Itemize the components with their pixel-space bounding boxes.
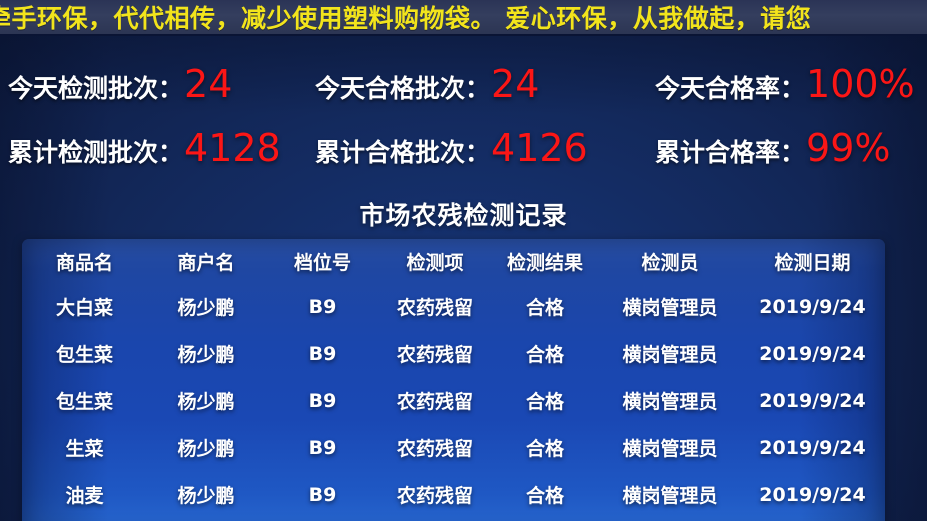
cell-merchant: 杨少鹏 [147,283,265,330]
cell-stall: B9 [265,377,380,424]
statistics-row-today: 今天检测批次： 24 今天合格批次： 24 今天合格率： 100% [0,54,927,116]
table-row: 生菜 杨少鹏 B9 农药残留 合格 横岗管理员 2019/9/24 [22,424,885,471]
cell-test-result: 合格 [490,283,600,330]
cell-merchant: 杨少鹏 [147,471,265,518]
column-header-inspector: 检测员 [600,239,740,283]
column-header-test-date: 检测日期 [740,239,885,283]
cell-inspector: 横岗管理员 [600,471,740,518]
stat-total-pass-rate-value: 99% [806,129,890,167]
marquee-banner: 牵手环保，代代相传，减少使用塑料购物袋。 爱心环保，从我做起，请您 [0,0,927,36]
cell-inspector: 横岗管理员 [600,283,740,330]
cell-test-item: 农药残留 [380,377,490,424]
stat-today-inspected-value: 24 [184,65,232,103]
stat-today-inspected: 今天检测批次： 24 [8,65,232,105]
marquee-banner-text: 牵手环保，代代相传，减少使用塑料购物袋。 爱心环保，从我做起，请您 [0,0,811,35]
cell-inspector: 横岗管理员 [600,330,740,377]
column-header-product: 商品名 [22,239,147,283]
cell-merchant: 杨少鹏 [147,330,265,377]
cell-stall: B9 [265,471,380,518]
cell-product: 包生菜 [22,377,147,424]
cell-stall: B9 [265,330,380,377]
table-row: 包生菜 杨少鹏 B9 农药残留 合格 横岗管理员 2019/9/24 [22,377,885,424]
stat-total-inspected-label: 累计检测批次： [8,133,183,169]
cell-test-date: 2019/9/24 [740,377,885,424]
column-header-test-item: 检测项 [380,239,490,283]
table-row: 大白菜 杨少鹏 B9 农药残留 合格 横岗管理员 2019/9/24 [22,283,885,330]
cell-test-item: 农药残留 [380,471,490,518]
cell-stall: B9 [265,283,380,330]
table-header-row: 商品名 商户名 档位号 检测项 检测结果 检测员 检测日期 [22,239,885,283]
cell-test-result: 合格 [490,424,600,471]
cell-test-item: 农药残留 [380,283,490,330]
stat-total-qualified-value: 4126 [491,129,588,167]
stat-today-inspected-label: 今天检测批次： [8,69,183,105]
cell-test-date: 2019/9/24 [740,283,885,330]
cell-product: 包生菜 [22,330,147,377]
column-header-merchant: 商户名 [147,239,265,283]
table-body: 大白菜 杨少鹏 B9 农药残留 合格 横岗管理员 2019/9/24 包生菜 杨… [22,283,885,518]
cell-stall: B9 [265,424,380,471]
stat-total-pass-rate: 累计合格率： 99% [655,129,890,169]
stat-today-qualified-value: 24 [491,65,539,103]
cell-inspector: 横岗管理员 [600,424,740,471]
cell-test-result: 合格 [490,471,600,518]
table-row: 包生菜 杨少鹏 B9 农药残留 合格 横岗管理员 2019/9/24 [22,330,885,377]
stat-total-inspected: 累计检测批次： 4128 [8,129,281,169]
stat-today-qualified: 今天合格批次： 24 [315,65,539,105]
cell-product: 大白菜 [22,283,147,330]
cell-test-item: 农药残留 [380,424,490,471]
column-header-stall: 档位号 [265,239,380,283]
stat-today-pass-rate-label: 今天合格率： [655,69,805,105]
table-row: 油麦 杨少鹏 B9 农药残留 合格 横岗管理员 2019/9/24 [22,471,885,518]
stat-total-inspected-value: 4128 [184,129,281,167]
cell-inspector: 横岗管理员 [600,377,740,424]
cell-test-date: 2019/9/24 [740,424,885,471]
cell-test-date: 2019/9/24 [740,471,885,518]
stat-total-pass-rate-label: 累计合格率： [655,133,805,169]
stat-total-qualified-label: 累计合格批次： [315,133,490,169]
statistics-row-total: 累计检测批次： 4128 累计合格批次： 4126 累计合格率： 99% [0,118,927,180]
stat-total-qualified: 累计合格批次： 4126 [315,129,588,169]
column-header-test-result: 检测结果 [490,239,600,283]
cell-test-item: 农药残留 [380,330,490,377]
cell-merchant: 杨少鹏 [147,377,265,424]
stat-today-pass-rate: 今天合格率： 100% [655,65,915,105]
dashboard-screen: 牵手环保，代代相传，减少使用塑料购物袋。 爱心环保，从我做起，请您 今天检测批次… [0,0,927,521]
statistics-section: 今天检测批次： 24 今天合格批次： 24 今天合格率： 100% 累计检测批次… [0,36,927,186]
records-panel-title: 市场农残检测记录 [0,196,927,232]
stat-today-qualified-label: 今天合格批次： [315,69,490,105]
cell-test-date: 2019/9/24 [740,330,885,377]
records-panel: 商品名 商户名 档位号 检测项 检测结果 检测员 检测日期 大白菜 杨少鹏 B9… [22,239,885,521]
cell-test-result: 合格 [490,330,600,377]
cell-product: 油麦 [22,471,147,518]
cell-test-result: 合格 [490,377,600,424]
cell-product: 生菜 [22,424,147,471]
stat-today-pass-rate-value: 100% [806,65,915,103]
cell-merchant: 杨少鹏 [147,424,265,471]
records-table: 商品名 商户名 档位号 检测项 检测结果 检测员 检测日期 大白菜 杨少鹏 B9… [22,239,885,518]
